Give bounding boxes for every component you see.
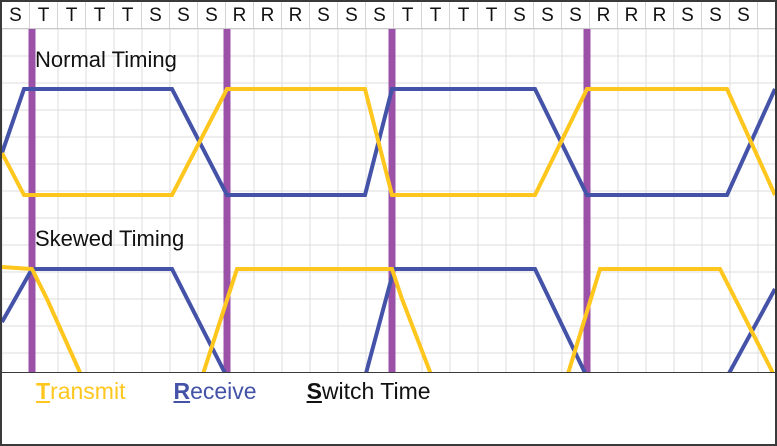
waveform-traces [2,29,775,410]
timeslot-header-cell: S [170,2,198,28]
timeslot-header-cell [758,2,777,28]
timeslot-header-cell: S [702,2,730,28]
timeslot-header-cell: S [338,2,366,28]
timeslot-header-cell: T [58,2,86,28]
timeslot-header-row: STTTTSSSRRRSSSTTTTSSSRRRSSS [2,2,777,29]
legend-label-text: witch Time [322,378,431,404]
timeslot-header-cell: S [310,2,338,28]
legend: Transmit Receive Switch Time [2,372,775,410]
timeslot-header-cell: R [590,2,618,28]
timeslot-header-cell: S [2,2,30,28]
timeslot-header-cell: R [618,2,646,28]
timeslot-header-cell: R [646,2,674,28]
waveform-skewed-timing-receive [2,269,775,377]
legend-label-text: ransmit [50,378,125,404]
timeslot-header-cell: S [730,2,758,28]
waveform-plot-area: Normal Timing Skewed Timing Transmit Rec… [2,29,775,410]
legend-item-switch-time: Switch Time [307,380,431,403]
timeslot-header-cell: T [394,2,422,28]
legend-key-letter: R [173,378,190,404]
timeslot-header-cell: T [450,2,478,28]
timeslot-header-cell: R [254,2,282,28]
timeslot-header-cell: T [30,2,58,28]
timeslot-header-cell: T [114,2,142,28]
timeslot-header-cell: S [506,2,534,28]
timeslot-header-cell: R [282,2,310,28]
panel-label-skewed-timing: Skewed Timing [35,226,184,252]
timeslot-header-cell: S [198,2,226,28]
timeslot-header-cell: S [674,2,702,28]
panel-label-normal-timing: Normal Timing [35,47,177,73]
legend-label-text: eceive [190,378,256,404]
legend-item-receive: Receive [173,380,256,403]
timeslot-header-cell: S [366,2,394,28]
timeslot-header-cell: R [226,2,254,28]
legend-key-letter: S [307,378,322,404]
timeslot-header-cell: T [422,2,450,28]
timeslot-header-cell: T [478,2,506,28]
timeslot-header-cell: S [142,2,170,28]
timing-diagram-figure: STTTTSSSRRRSSSTTTTSSSRRRSSS Normal Timin… [0,0,777,446]
legend-key-letter: T [36,378,50,404]
legend-item-transmit: Transmit [36,380,125,403]
timeslot-header-cell: T [86,2,114,28]
timeslot-header-cell: S [534,2,562,28]
timeslot-header-cell: S [562,2,590,28]
